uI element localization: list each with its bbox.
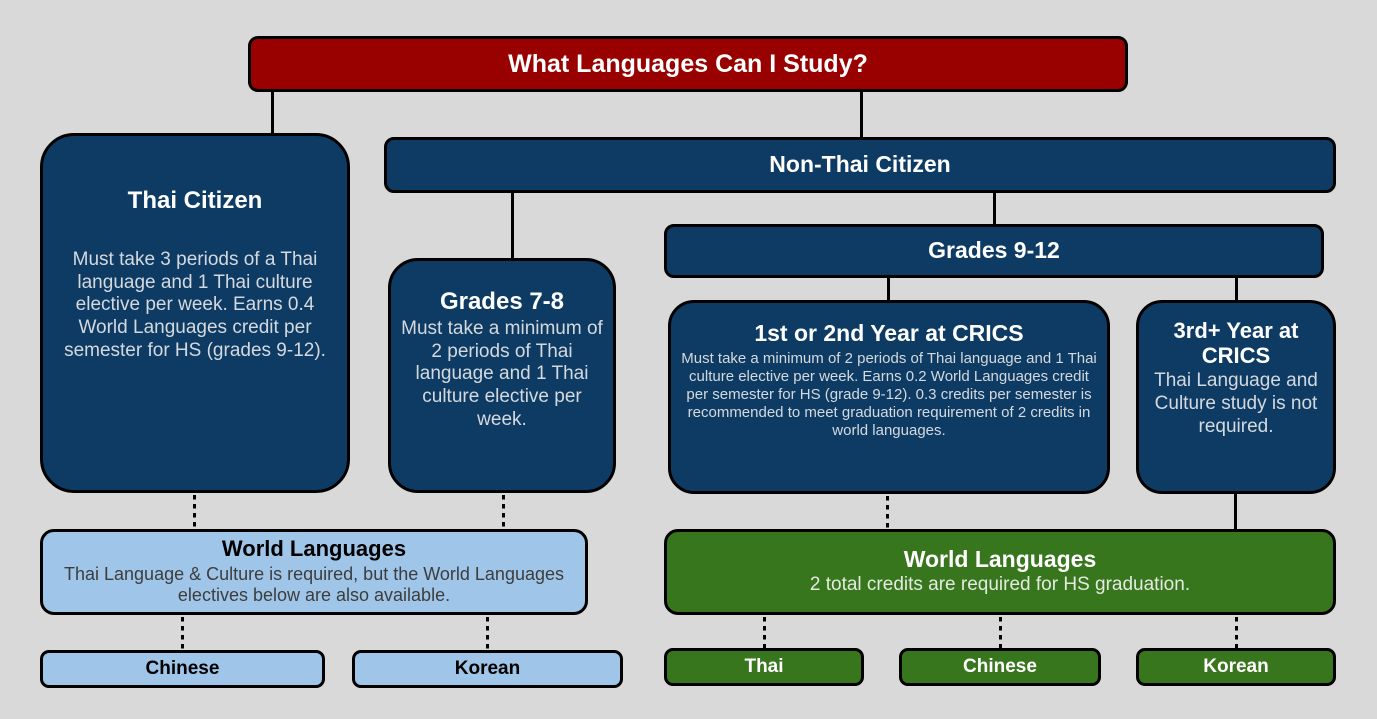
chip-chinese-left[interactable]: Chinese xyxy=(40,650,325,688)
chip-thai-right[interactable]: Thai xyxy=(664,648,864,686)
chip-korean-left[interactable]: Korean xyxy=(352,650,623,688)
chip-korean-right[interactable]: Korean xyxy=(1136,648,1336,686)
connector-root-to-thai-citizen xyxy=(271,92,274,133)
world-languages-left-title: World Languages xyxy=(222,537,406,562)
chip-chinese-right[interactable]: Chinese xyxy=(899,648,1101,686)
connector-non-thai-to-grades-7-8 xyxy=(511,193,514,258)
node-root-question[interactable]: What Languages Can I Study? xyxy=(248,36,1128,92)
chip-chinese-right-label: Chinese xyxy=(963,656,1037,677)
connector-thai-citizen-to-world-languages xyxy=(193,495,196,529)
world-languages-right-body: 2 total credits are required for HS grad… xyxy=(810,574,1190,597)
connector-world-languages-to-thai-green xyxy=(763,617,766,648)
chip-thai-right-label: Thai xyxy=(744,656,783,677)
world-languages-right-title: World Languages xyxy=(904,547,1097,573)
world-languages-left-body: Thai Language & Culture is required, but… xyxy=(53,564,575,607)
connector-crics-1st-2nd-to-world-languages xyxy=(886,496,889,529)
non-thai-citizen-title: Non-Thai Citizen xyxy=(769,152,950,178)
connector-grades-9-12-to-crics-1st-2nd xyxy=(887,278,890,300)
node-non-thai-citizen[interactable]: Non-Thai Citizen xyxy=(384,137,1336,193)
node-world-languages-left[interactable]: World Languages Thai Language & Culture … xyxy=(40,529,588,615)
flowchart-canvas: What Languages Can I Study? Thai Citizen… xyxy=(0,0,1377,719)
connector-world-languages-to-korean-left xyxy=(486,617,489,649)
connector-world-languages-to-chinese-green xyxy=(999,617,1002,648)
grades-9-12-title: Grades 9-12 xyxy=(928,238,1060,264)
connector-root-to-non-thai-citizen xyxy=(860,92,863,137)
crics-1st-2nd-year-title: 1st or 2nd Year at CRICS xyxy=(754,321,1023,347)
node-grades-9-12[interactable]: Grades 9-12 xyxy=(664,224,1324,278)
chip-chinese-left-label: Chinese xyxy=(146,658,220,679)
root-question-title: What Languages Can I Study? xyxy=(508,50,868,78)
node-crics-1st-2nd-year[interactable]: 1st or 2nd Year at CRICS Must take a min… xyxy=(668,300,1110,494)
connector-world-languages-to-korean-green xyxy=(1235,617,1238,648)
connector-grades-9-12-to-crics-3rd-plus xyxy=(1235,278,1238,300)
crics-1st-2nd-year-body: Must take a minimum of 2 periods of Thai… xyxy=(681,350,1097,440)
thai-citizen-title: Thai Citizen xyxy=(128,188,263,215)
grades-7-8-body: Must take a minimum of 2 periods of Thai… xyxy=(401,318,603,432)
chip-korean-left-label: Korean xyxy=(455,658,520,679)
chip-korean-right-label: Korean xyxy=(1203,656,1268,677)
node-crics-3rd-plus-year[interactable]: 3rd+ Year at CRICS Thai Language and Cul… xyxy=(1136,300,1336,494)
crics-3rd-plus-year-title: 3rd+ Year at CRICS xyxy=(1149,319,1323,368)
node-thai-citizen[interactable]: Thai Citizen Must take 3 periods of a Th… xyxy=(40,133,350,493)
connector-non-thai-to-grades-9-12 xyxy=(993,193,996,224)
connector-crics-3rd-plus-to-world-languages xyxy=(1234,494,1237,530)
node-world-languages-right[interactable]: World Languages 2 total credits are requ… xyxy=(664,529,1336,615)
grades-7-8-title: Grades 7-8 xyxy=(440,289,564,316)
thai-citizen-body: Must take 3 periods of a Thai language a… xyxy=(53,249,337,363)
connector-world-languages-to-chinese-left xyxy=(181,617,184,649)
crics-3rd-plus-year-body: Thai Language and Culture study is not r… xyxy=(1149,370,1323,438)
connector-grades-7-8-to-world-languages xyxy=(502,495,505,529)
node-grades-7-8[interactable]: Grades 7-8 Must take a minimum of 2 peri… xyxy=(388,258,616,493)
